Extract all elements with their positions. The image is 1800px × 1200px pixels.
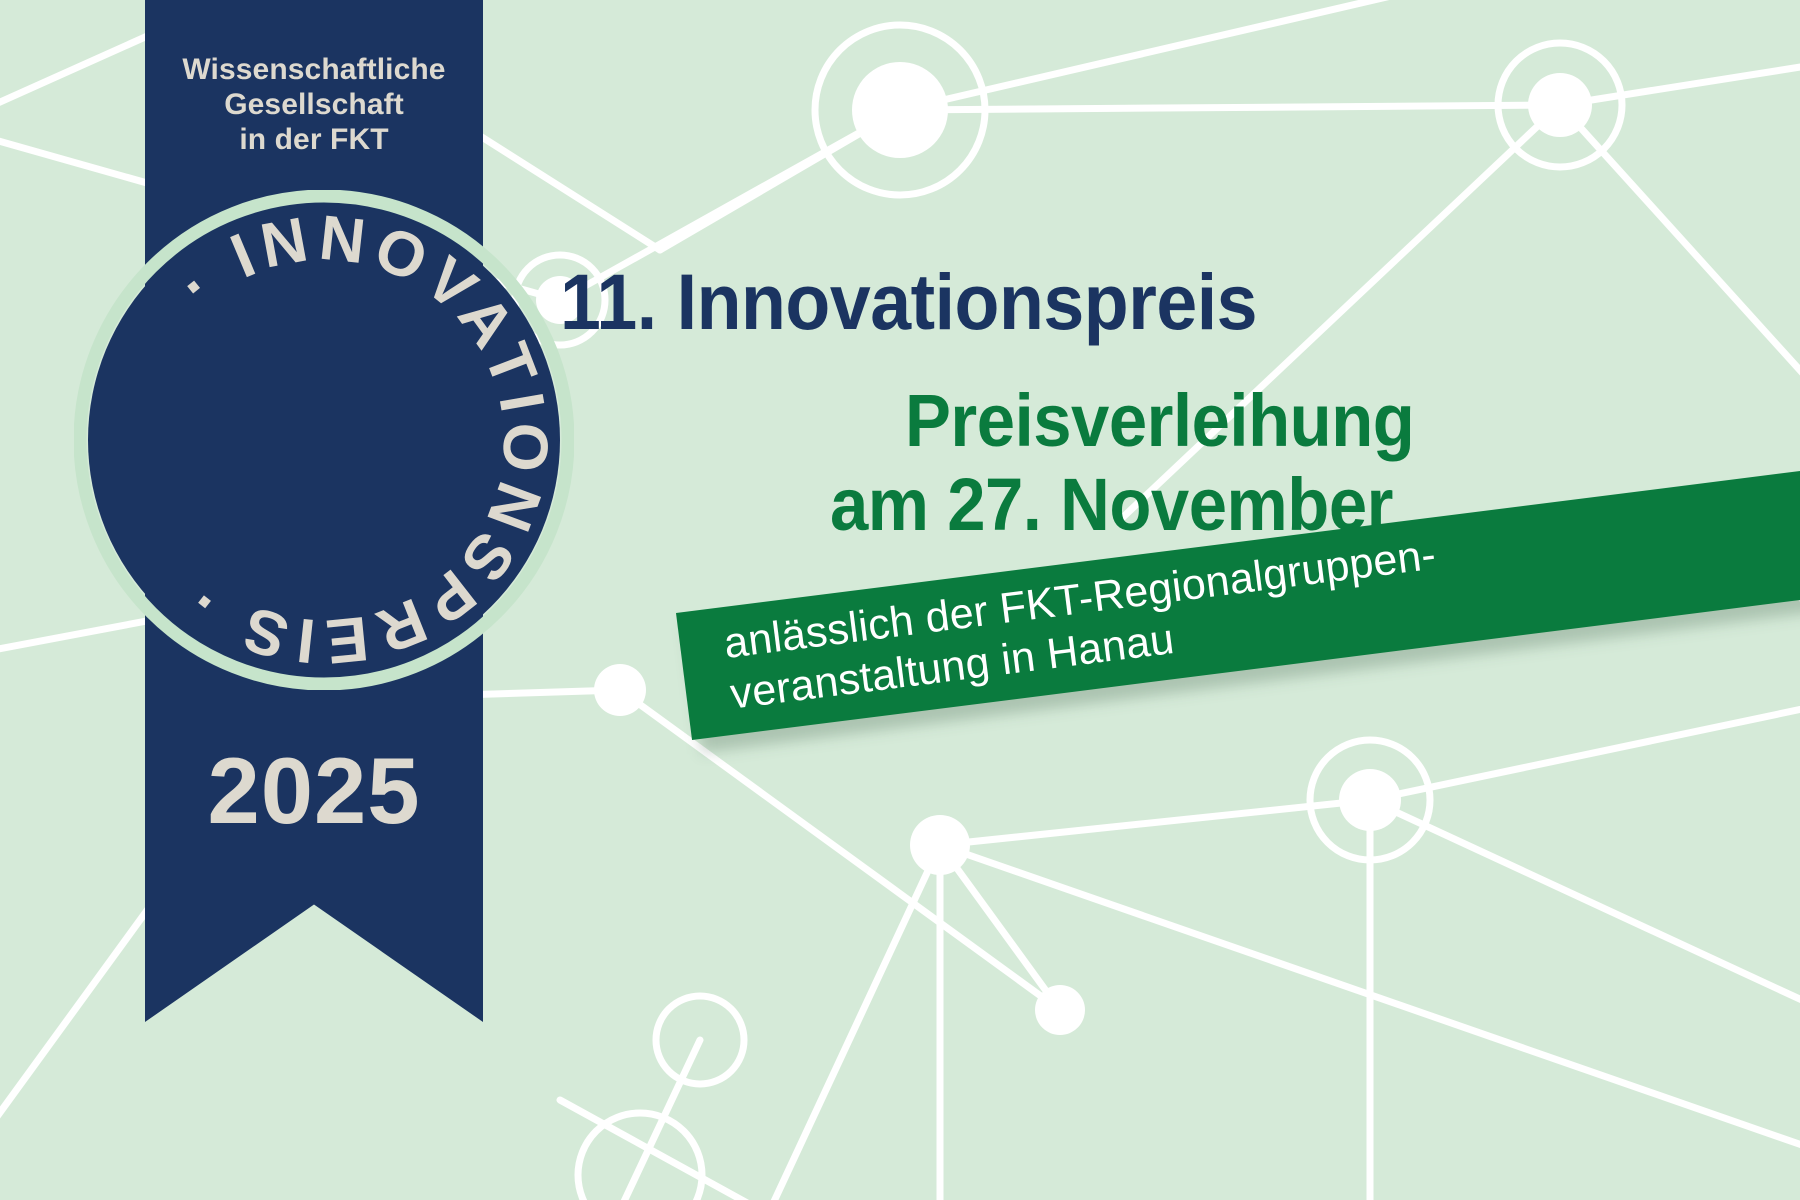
- subtitle-line-1: Preisverleihung: [905, 384, 1414, 458]
- org-line-1: Wissenschaftliche: [145, 52, 483, 87]
- innovationspreis-seal: · INNOVATIONSPREIS ·: [74, 190, 574, 690]
- poster-canvas: Wissenschaftliche Gesellschaft in der FK…: [0, 0, 1800, 1200]
- org-line-2: Gesellschaft: [145, 87, 483, 122]
- seal-disc: [88, 204, 560, 676]
- organization-name: Wissenschaftliche Gesellschaft in der FK…: [145, 52, 483, 157]
- subtitle-line-2: am 27. November: [830, 468, 1393, 542]
- page-title: 11. Innovationspreis: [560, 262, 1453, 341]
- award-year: 2025: [145, 737, 483, 845]
- org-line-3: in der FKT: [145, 122, 483, 157]
